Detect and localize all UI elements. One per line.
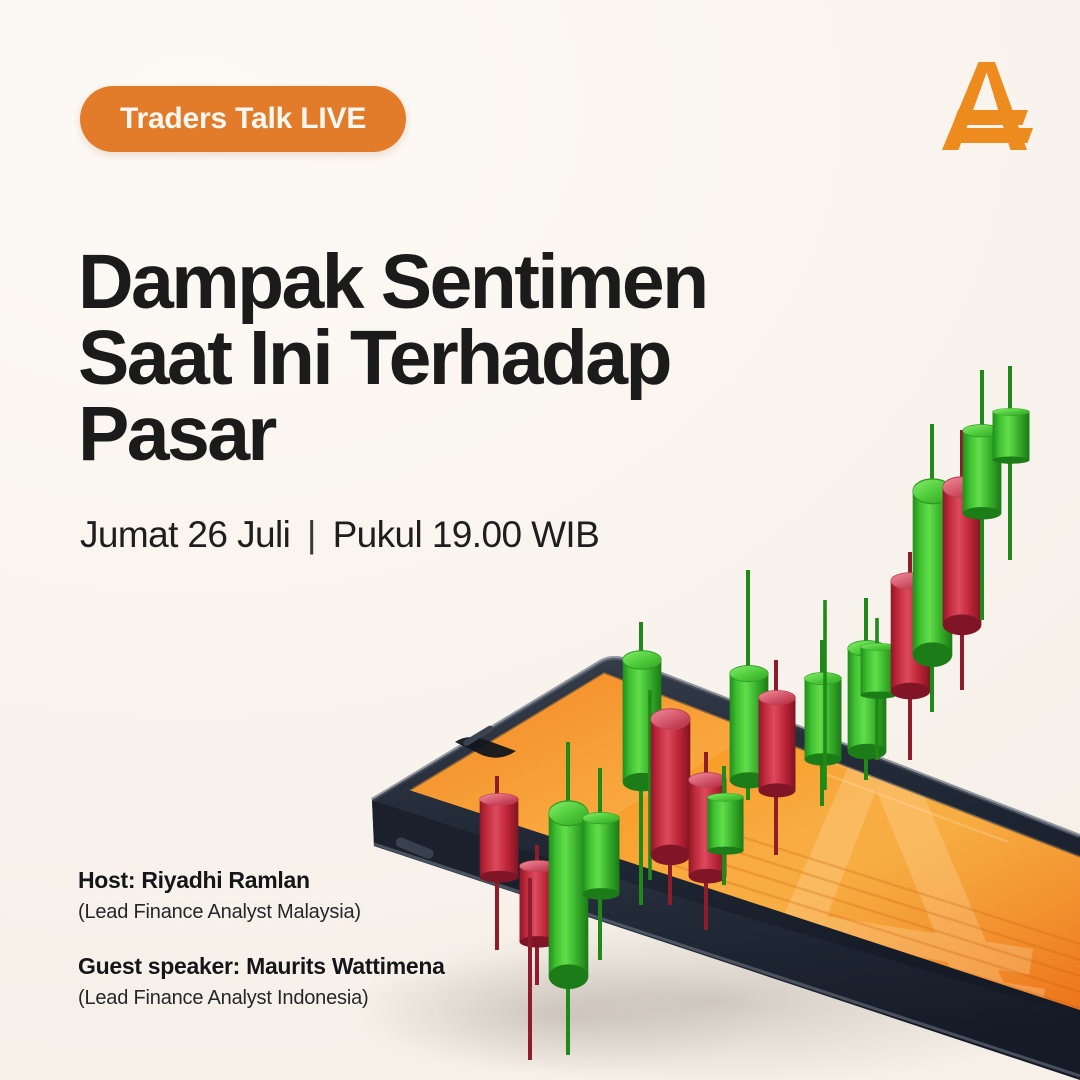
live-badge-label: Traders Talk LIVE xyxy=(120,104,366,134)
headline-line-2: Saat Ini Terhadap xyxy=(78,320,798,396)
credit-guest: Guest speaker: Maurits Wattimena (Lead F… xyxy=(78,952,445,1012)
schedule-line: Jumat 26 Juli | Pukul 19.00 WIB xyxy=(80,514,599,556)
guest-name: Guest speaker: Maurits Wattimena xyxy=(78,952,445,982)
live-badge[interactable]: Traders Talk LIVE xyxy=(80,86,406,152)
host-role: (Lead Finance Analyst Malaysia) xyxy=(78,899,445,926)
guest-role: (Lead Finance Analyst Indonesia) xyxy=(78,985,445,1012)
host-name: Host: Riyadhi Ramlan xyxy=(78,866,445,896)
amarkets-a-logo-icon xyxy=(934,58,1038,154)
credit-host: Host: Riyadhi Ramlan (Lead Finance Analy… xyxy=(78,866,445,926)
promo-poster: Traders Talk LIVE Dampak Sentimen Saat I… xyxy=(0,0,1080,1080)
schedule-time: Pukul 19.00 WIB xyxy=(333,514,600,555)
schedule-separator: | xyxy=(300,514,323,556)
page-title: Dampak Sentimen Saat Ini Terhadap Pasar xyxy=(78,244,798,473)
speaker-credits: Host: Riyadhi Ramlan (Lead Finance Analy… xyxy=(78,866,445,1012)
headline-line-1: Dampak Sentimen xyxy=(78,244,798,320)
schedule-date: Jumat 26 Juli xyxy=(80,514,290,555)
headline-line-3: Pasar xyxy=(78,396,798,472)
